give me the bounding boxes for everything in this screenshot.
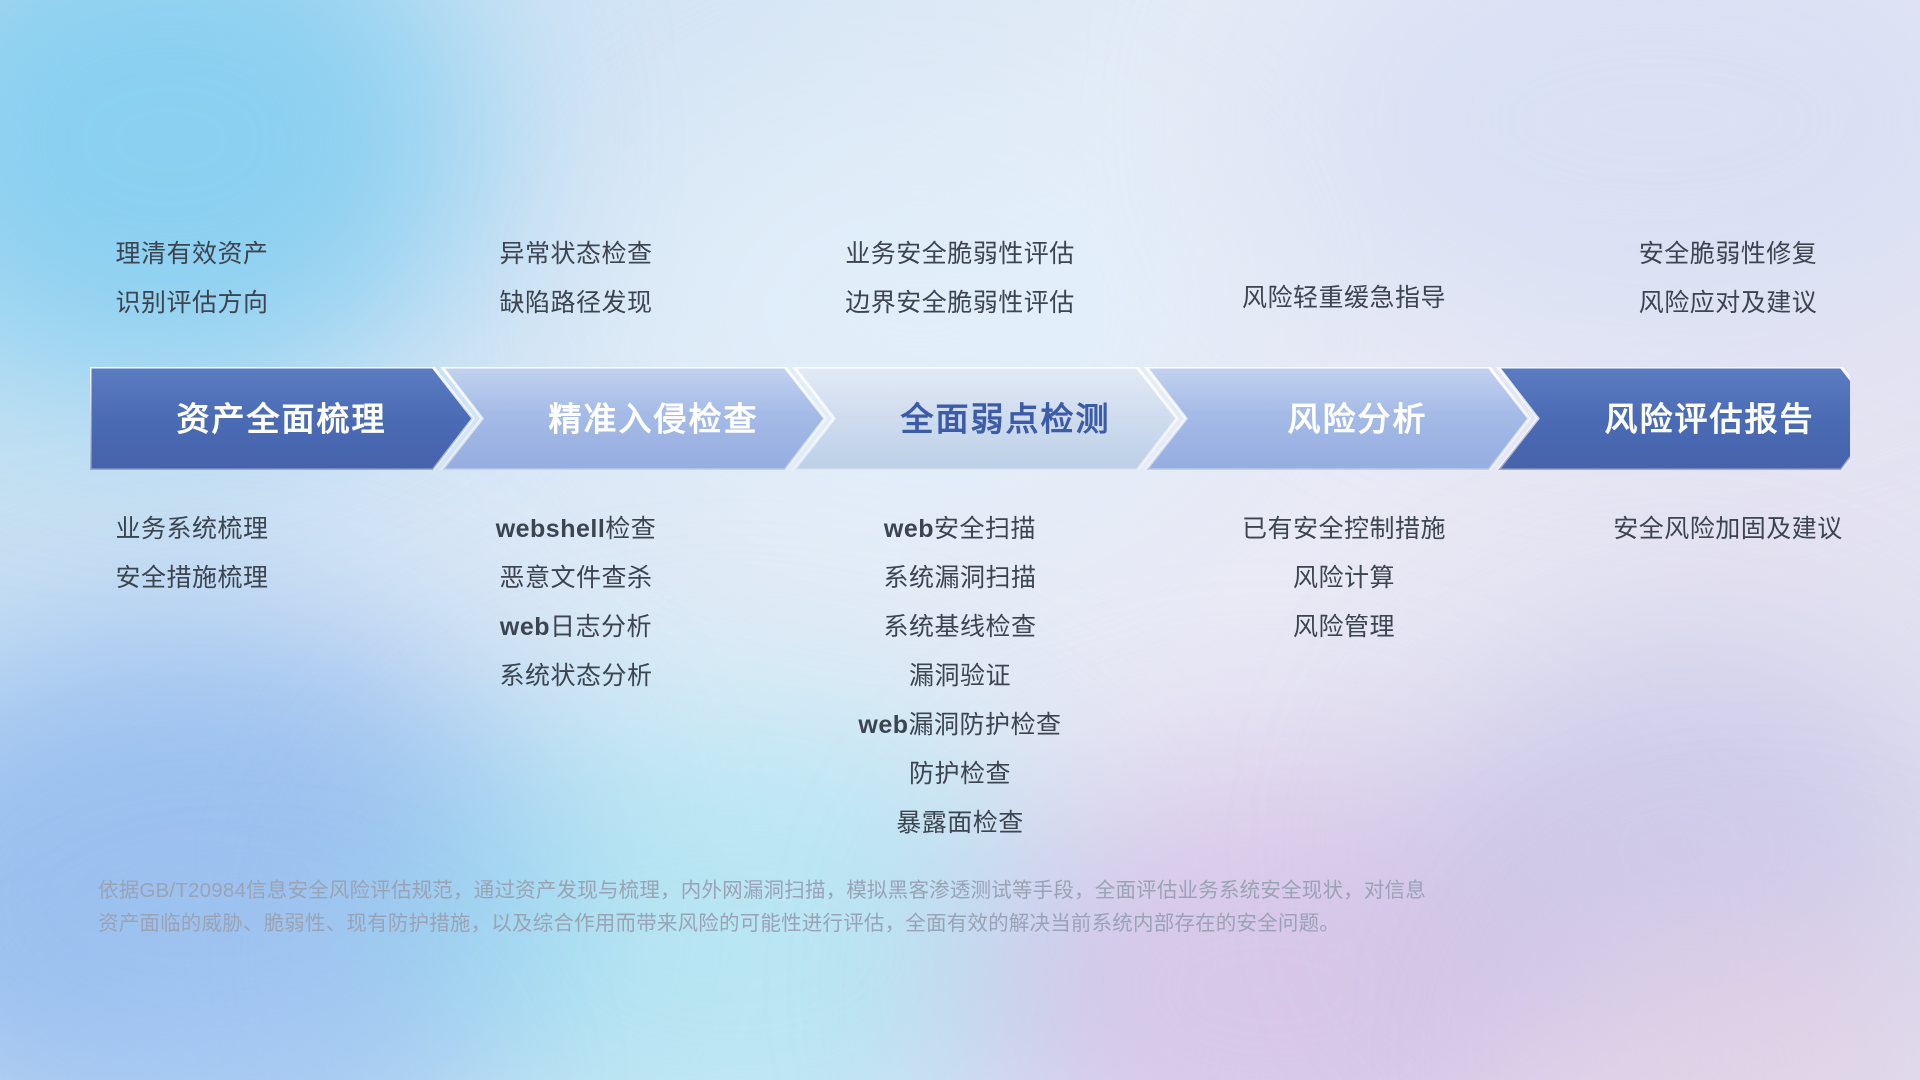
footer-line-1: 依据GB/T20984信息安全风险评估规范，通过资产发现与梳理，内外网漏洞扫描，… (98, 874, 1658, 907)
stage-output-column-assessment-report: 安全风险加固及建议 (1536, 505, 1920, 554)
stage-output-item-text: 检查 (605, 515, 656, 543)
stage-input-column-asset-inventory: 理清有效资产识别评估方向 (0, 230, 384, 340)
stage-output-item: 系统状态分析 (499, 652, 652, 701)
stage-input-item: 缺陷路径发现 (499, 279, 652, 328)
stage-output-item: 防护检查 (909, 750, 1011, 799)
stage-input-item: 识别评估方向 (115, 279, 268, 328)
stage-output-item-text: 安全扫描 (934, 515, 1036, 543)
stage-input-item: 风险轻重缓急指导 (1242, 274, 1446, 323)
stage-output-item: 系统基线检查 (883, 603, 1036, 652)
stage-output-item-text: 漏洞防护检查 (909, 711, 1062, 739)
stage-output-item-lead: web (884, 515, 934, 543)
stage-input-item: 安全脆弱性修复 (1639, 230, 1818, 279)
stage-output-item: 安全措施梳理 (115, 554, 268, 603)
stage-output-item: web日志分析 (500, 603, 652, 652)
process-arrow-label-weakness-detection: 全面弱点检测 (900, 401, 1111, 438)
stage-output-item: 风险计算 (1293, 554, 1395, 603)
process-arrow-band: 资产全面梳理精准入侵检查全面弱点检测风险分析风险评估报告 (90, 367, 1850, 470)
stage-output-item: 风险管理 (1293, 603, 1395, 652)
stage-output-item: 系统漏洞扫描 (883, 554, 1036, 603)
stage-input-item: 业务安全脆弱性评估 (845, 230, 1075, 279)
stage-input-column-weakness-detection: 业务安全脆弱性评估边界安全脆弱性评估 (768, 230, 1152, 340)
stage-input-item: 异常状态检查 (499, 230, 652, 279)
stage-output-column-asset-inventory: 业务系统梳理安全措施梳理 (0, 505, 384, 603)
stage-output-item: 业务系统梳理 (115, 505, 268, 554)
stage-output-item: 暴露面检查 (896, 799, 1024, 848)
stage-output-item-lead: webshell (496, 515, 606, 543)
stage-output-item: 已有安全控制措施 (1242, 505, 1446, 554)
stage-output-item: web漏洞防护检查 (858, 701, 1061, 750)
process-arrow-label-asset-inventory: 资产全面梳理 (177, 401, 387, 438)
stage-output-item: 安全风险加固及建议 (1613, 505, 1843, 554)
stage-input-column-intrusion-check: 异常状态检查缺陷路径发现 (384, 230, 768, 340)
stage-output-column-risk-analysis: 已有安全控制措施风险计算风险管理 (1152, 505, 1536, 652)
footer-description: 依据GB/T20984信息安全风险评估规范，通过资产发现与梳理，内外网漏洞扫描，… (98, 874, 1658, 940)
stage-output-item-text: 日志分析 (550, 613, 652, 641)
stage-output-item-lead: web (858, 711, 908, 739)
stage-input-item: 风险应对及建议 (1639, 279, 1818, 328)
stage-output-column-weakness-detection: web安全扫描系统漏洞扫描系统基线检查漏洞验证web漏洞防护检查防护检查暴露面检… (768, 505, 1152, 848)
process-arrow-label-risk-analysis: 风险分析 (1288, 401, 1428, 438)
stage-input-item: 理清有效资产 (115, 230, 268, 279)
stage-inputs-row: 理清有效资产识别评估方向异常状态检查缺陷路径发现业务安全脆弱性评估边界安全脆弱性… (0, 230, 1920, 340)
stage-output-column-intrusion-check: webshell检查恶意文件查杀web日志分析系统状态分析 (384, 505, 768, 701)
stage-output-item-lead: web (500, 613, 550, 641)
stage-output-item: 恶意文件查杀 (499, 554, 652, 603)
process-arrow-label-intrusion-check: 精准入侵检查 (549, 401, 759, 438)
stage-input-item: 边界安全脆弱性评估 (845, 279, 1075, 328)
stage-outputs-row: 业务系统梳理安全措施梳理webshell检查恶意文件查杀web日志分析系统状态分… (0, 505, 1920, 848)
process-arrow-label-assessment-report: 风险评估报告 (1605, 401, 1815, 438)
process-diagram: 理清有效资产识别评估方向异常状态检查缺陷路径发现业务安全脆弱性评估边界安全脆弱性… (0, 0, 1920, 1080)
footer-line-2: 资产面临的威胁、脆弱性、现有防护措施，以及综合作用而带来风险的可能性进行评估，全… (98, 907, 1658, 940)
stage-output-item: 漏洞验证 (909, 652, 1011, 701)
stage-input-column-risk-analysis: 风险轻重缓急指导 (1152, 230, 1536, 340)
stage-output-item: webshell检查 (496, 505, 657, 554)
stage-input-column-assessment-report: 安全脆弱性修复风险应对及建议 (1536, 230, 1920, 340)
stage-output-item: web安全扫描 (884, 505, 1036, 554)
